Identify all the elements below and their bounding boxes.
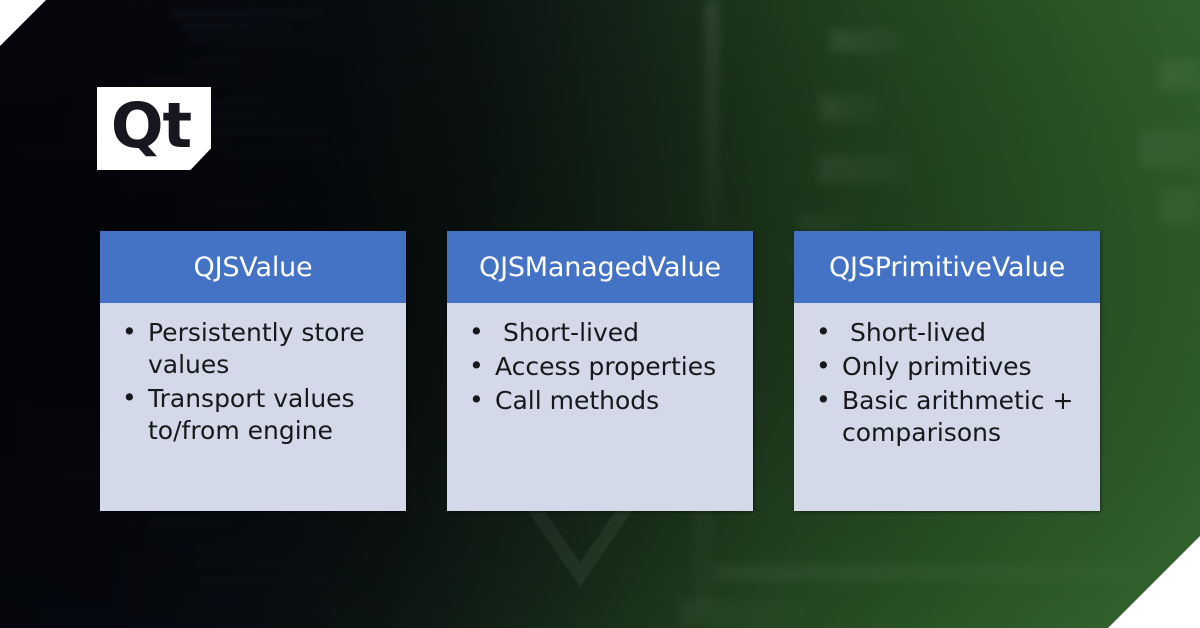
card-qjsmanagedvalue: QJSManagedValue Short-lived Access prope… <box>447 231 753 511</box>
card-header: QJSValue <box>100 231 406 303</box>
card-title: QJSValue <box>194 252 313 283</box>
card-bullet-list: Short-lived Only primitives Basic arithm… <box>808 317 1086 449</box>
card-bullet-item: Persistently store values <box>114 317 392 381</box>
card-bullet-item: Short-lived <box>808 317 1086 349</box>
card-header: QJSPrimitiveValue <box>794 231 1100 303</box>
qt-logo-text: Qt <box>111 95 191 157</box>
card-bullet-item: Only primitives <box>808 351 1086 383</box>
comparison-card-group: QJSValue Persistently store values Trans… <box>100 231 1102 511</box>
card-bullet-item: Short-lived <box>461 317 739 349</box>
card-bullet-item: Basic arithmetic + comparisons <box>808 385 1086 449</box>
card-body: Persistently store values Transport valu… <box>100 303 406 511</box>
card-bullet-list: Short-lived Access properties Call metho… <box>461 317 739 417</box>
card-bullet-item: Access properties <box>461 351 739 383</box>
qt-logo: Qt <box>97 87 211 170</box>
card-body: Short-lived Access properties Call metho… <box>447 303 753 511</box>
slide-canvas: Qt QJSValue Persistently store values Tr… <box>0 0 1200 628</box>
card-title: QJSPrimitiveValue <box>829 252 1065 283</box>
card-title: QJSManagedValue <box>479 252 721 283</box>
card-bullet-item: Call methods <box>461 385 739 417</box>
card-bullet-list: Persistently store values Transport valu… <box>114 317 392 447</box>
card-qjsvalue: QJSValue Persistently store values Trans… <box>100 231 406 511</box>
card-header: QJSManagedValue <box>447 231 753 303</box>
card-bullet-item: Transport values to/from engine <box>114 383 392 447</box>
card-qjsprimitivevalue: QJSPrimitiveValue Short-lived Only primi… <box>794 231 1100 511</box>
card-body: Short-lived Only primitives Basic arithm… <box>794 303 1100 511</box>
